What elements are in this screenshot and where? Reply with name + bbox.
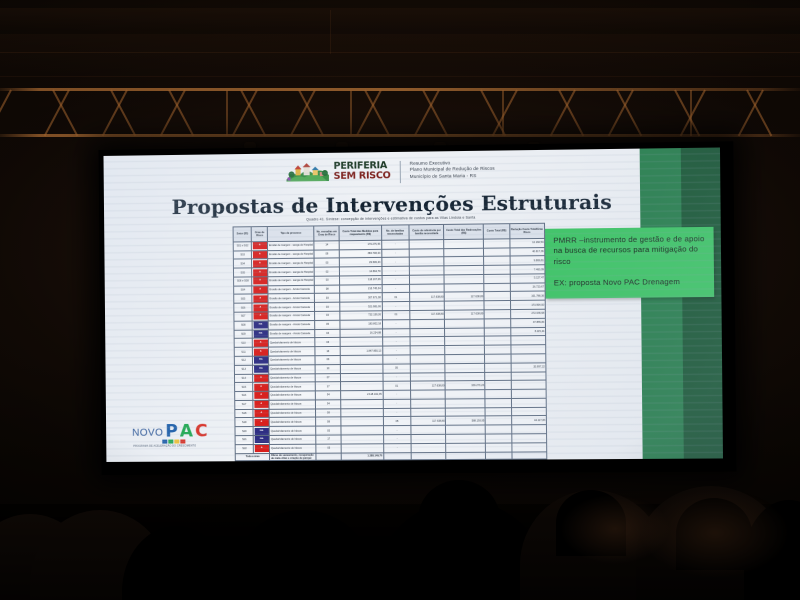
cell-custo_ref (411, 408, 446, 417)
cell-tipo: Queda/rolamento de blocos (269, 338, 315, 347)
cell-custo_realoc (445, 363, 485, 372)
cell-custo_total (485, 389, 511, 398)
table-col-header-1: Grau de Risco (252, 227, 268, 242)
risk-swatch: A (253, 286, 267, 293)
table-col-header-0: Setor (ID) (233, 227, 252, 242)
cell-custo_total (484, 256, 510, 265)
brick-seam (0, 52, 800, 53)
risk-swatch: A (254, 419, 268, 426)
cell-custo_med: 29.606,43 (340, 258, 382, 267)
cell-tipo: Queda/rolamento de blocos (269, 382, 315, 391)
cell-reducao: 44.117,83 (511, 416, 546, 425)
cell-custo_total (485, 363, 511, 372)
cell-moradias: 04 (316, 400, 342, 409)
cell-custo_realoc (445, 345, 485, 354)
auditorium-scene: PERIFERIA SEM RISCO Resumo Executivo Pla… (0, 0, 800, 600)
cell-tipo: Erosão de margem - Arroio Cancela (269, 329, 315, 338)
cell-custo_med (341, 417, 383, 426)
cell-custo_realoc: 117.638,80 (445, 292, 485, 301)
cell-custo_total (485, 381, 511, 390)
cell-moradias: 06 (315, 355, 341, 364)
risk-swatch: MA (254, 366, 268, 373)
risk-swatch: A (253, 251, 267, 258)
cell-custo_total (485, 372, 511, 381)
cell-moradias: 08 (316, 417, 342, 426)
cell-custo_med: 16.234,88 (340, 329, 382, 338)
cell-custo_total (485, 416, 511, 425)
cell-custo_realoc (446, 399, 486, 408)
cell-custo_total (485, 336, 511, 345)
cell-custo_ref (409, 257, 444, 266)
cell-custo_total (484, 283, 510, 292)
cell-custo_realoc (445, 328, 485, 337)
cell-custo_med: 118.167,06 (340, 275, 382, 284)
periferia-sem-risco-logo: PERIFERIA SEM RISCO (286, 161, 391, 181)
cell-custo_total (484, 274, 510, 283)
cell-familias: 01 (382, 293, 410, 302)
cell-tipo: Queda/rolamento de blocos (270, 435, 316, 444)
pac-letter-p: P (165, 424, 178, 438)
callout-example-text: EX: proposta Novo PAC Drenagem (554, 277, 706, 289)
audience-head (418, 480, 500, 558)
risk-level-cell: A (252, 250, 268, 259)
cell-custo_med (341, 444, 383, 453)
cell-custo_med (341, 382, 383, 391)
risk-level-cell: A (252, 268, 268, 277)
cell-familias: - (383, 434, 411, 443)
cell-custo_realoc (444, 274, 484, 283)
slide-header: PERIFERIA SEM RISCO Resumo Executivo Pla… (104, 157, 682, 187)
cell-familias: - (382, 302, 410, 311)
table-col-header-7: Custo Total das Realocações (R$) (444, 224, 484, 239)
audience-head (556, 490, 626, 556)
cell-custo_ref (410, 363, 445, 372)
cell-custo_med (341, 399, 383, 408)
cell-custo_realoc (444, 248, 484, 257)
cell-tipo: Erosão de margem - Arroio Cancela (269, 320, 315, 329)
cell-reducao (510, 345, 545, 354)
cell-moradias: 03 (314, 276, 340, 285)
total-empty (512, 451, 547, 459)
document-identification: Resumo Executivo Plano Municipal de Redu… (410, 160, 495, 181)
cell-tipo: Queda/rolamento de blocos (269, 356, 315, 365)
cell-setor: S01 e S02 (233, 242, 252, 251)
cell-familias: 05 (383, 417, 411, 426)
cell-familias: - (382, 275, 410, 284)
risk-level-cell: MA (252, 321, 268, 330)
risk-level-cell: A (253, 409, 269, 418)
cell-familias: - (383, 399, 411, 408)
interventions-table: Setor (ID)Grau de RiscoTipo de processoN… (233, 223, 548, 462)
cell-setor: S05 (233, 268, 252, 277)
brick-seam (0, 76, 800, 77)
cell-setor: S19 (235, 418, 254, 427)
pac-novo-text: NOVO (132, 428, 163, 439)
risk-level-cell: A (252, 241, 268, 250)
cell-custo_ref (409, 266, 444, 275)
risk-swatch: A (253, 295, 267, 302)
cell-custo_med (341, 435, 383, 444)
cell-familias: - (383, 390, 411, 399)
cell-custo_med: 179.275,45 (340, 240, 382, 249)
cell-custo_ref (409, 239, 444, 248)
risk-level-cell: A (253, 374, 269, 383)
cell-tipo: Queda/rolamento de blocos (269, 409, 315, 418)
cell-reducao (510, 336, 545, 345)
cell-custo_total (485, 407, 511, 416)
risk-swatch: A (254, 401, 268, 408)
cell-familias: - (381, 257, 409, 266)
green-band-dark (681, 147, 723, 458)
table-col-header-8: Custo Total (R$) (484, 224, 510, 239)
cell-custo_total (484, 301, 510, 310)
cell-custo_med (340, 337, 382, 346)
risk-level-cell: A (252, 294, 268, 303)
cell-custo_total (485, 345, 511, 354)
table-col-header-3: No. moradias em Grau de Risco (314, 226, 340, 241)
audience-head (268, 522, 330, 582)
cell-reducao (511, 425, 546, 434)
risk-swatch: MA (254, 322, 268, 329)
cell-custo_realoc: 588.193,95 (446, 416, 486, 425)
cell-setor: S16 (235, 391, 254, 400)
risk-level-cell: A (253, 338, 269, 347)
logo-line-2: SEM RISCO (334, 171, 391, 181)
cell-setor: S21 (235, 435, 254, 444)
cell-custo_ref (409, 248, 444, 257)
risk-level-cell: MA (253, 427, 269, 436)
cell-custo_total (485, 354, 511, 363)
risk-level-cell: A (252, 259, 268, 268)
cell-setor: S04 (233, 259, 252, 268)
risk-level-cell: A (253, 391, 269, 400)
table-body: S01 e S02AErosão de margem - sanga do Ho… (233, 238, 547, 461)
risk-level-cell: MA (254, 435, 270, 444)
risk-swatch: A (253, 242, 267, 249)
cell-custo_med: 732.139,26 (340, 311, 382, 320)
cell-familias: 01 (383, 381, 411, 390)
cell-tipo: Erosão de margem - Arroio Cancela (268, 311, 314, 320)
cell-custo_med: 14.864,79 (340, 267, 382, 276)
risk-level-cell: A (252, 303, 268, 312)
cell-custo_med: 183.802,18 (340, 320, 382, 329)
cell-familias: - (382, 328, 410, 337)
cell-setor: S22 (235, 444, 254, 453)
cell-setor: S12 (234, 356, 253, 365)
projection-screen: PERIFERIA SEM RISCO Resumo Executivo Pla… (98, 141, 736, 475)
cell-custo_ref: 117.638,80 (411, 381, 446, 390)
cell-reducao: 12.182,53 (509, 238, 544, 247)
cell-custo_total (485, 398, 511, 407)
cell-reducao (511, 398, 546, 407)
cell-familias: - (382, 355, 410, 364)
cell-familias: - (382, 284, 410, 293)
ceiling-band (0, 8, 800, 30)
cell-familias: - (383, 426, 411, 435)
cell-reducao: 173.994,00 (510, 300, 545, 309)
cell-custo_ref (410, 337, 445, 346)
cell-custo_realoc (446, 425, 486, 434)
cell-setor: S18 (235, 409, 254, 418)
risk-level-cell: MA (253, 365, 269, 374)
stage-truss (0, 88, 800, 140)
cell-tipo: Queda/rolamento de blocos (269, 400, 315, 409)
risk-level-cell: MA (253, 330, 269, 339)
risk-level-cell: A (252, 277, 268, 286)
table-col-header-4: Custo Total das Medidas para mapeamento … (339, 225, 381, 240)
cell-custo_total (484, 265, 510, 274)
cell-custo_ref (410, 346, 445, 355)
cell-custo_med (341, 373, 383, 382)
cell-familias: - (382, 266, 410, 275)
header-divider (399, 161, 400, 183)
risk-swatch: A (254, 410, 268, 417)
cell-custo_med: 1.847.850,13 (341, 346, 383, 355)
cell-setor: S17 (235, 400, 254, 409)
audience-head (152, 536, 230, 600)
cell-tipo: Queda/rolamento de blocos (269, 373, 315, 382)
cell-moradias: 05 (316, 426, 342, 435)
cell-custo_ref (410, 275, 445, 284)
cell-familias: - (383, 443, 411, 452)
table-col-header-6: Custo de referência por família necessit… (409, 224, 444, 239)
cell-moradias: 04 (315, 391, 341, 400)
cell-reducao: 7.460,39 (510, 265, 545, 274)
cell-setor: S15 (235, 383, 254, 392)
cell-custo_total (486, 425, 512, 434)
presentation-slide: PERIFERIA SEM RISCO Resumo Executivo Pla… (103, 147, 723, 461)
cell-moradias: 14 (314, 241, 340, 250)
cell-tipo: Queda/rolamento de blocos (269, 347, 315, 356)
cell-familias: - (382, 346, 410, 355)
cell-setor: S10 (234, 339, 253, 348)
cell-moradias: 03 (315, 311, 341, 320)
cell-reducao: 5.127,47 (510, 274, 545, 283)
cell-moradias: 02 (314, 267, 340, 276)
cell-custo_realoc (445, 336, 485, 345)
cell-custo_total (486, 443, 512, 452)
cell-custo_realoc (446, 443, 486, 452)
cell-custo_total (485, 318, 511, 327)
cell-custo_realoc (445, 283, 485, 292)
cell-moradias: 17 (316, 435, 342, 444)
cell-custo_realoc (444, 239, 484, 248)
cell-setor: S14 (234, 374, 253, 383)
risk-swatch: MA (255, 436, 269, 443)
cell-moradias: 08 (316, 408, 342, 417)
cell-custo_ref (410, 372, 445, 381)
cell-moradias: 05 (315, 320, 341, 329)
cell-moradias: 08 (314, 285, 340, 294)
cell-tipo: Queda/rolamento de blocos (270, 444, 316, 453)
cell-custo_ref (410, 328, 445, 337)
cell-setor: S11 (234, 347, 253, 356)
cell-setor: S06 (234, 303, 253, 312)
table-total-row: Toda a áreaObras de saneamento, recupera… (235, 451, 547, 461)
doc-line-3: Município de Santa Maria - RS (410, 173, 495, 181)
total-custo: 1.388.149,76 (342, 452, 384, 460)
cell-custo_ref (411, 399, 446, 408)
total-empty (411, 452, 446, 460)
village-hills-icon (286, 162, 329, 182)
cell-reducao (511, 389, 546, 398)
cell-moradias: 07 (315, 373, 341, 382)
cell-reducao: 37.855,84 (510, 318, 545, 327)
cell-custo_total (484, 247, 510, 256)
pac-color-chips (162, 439, 207, 443)
cell-familias: 01 (382, 311, 410, 320)
cell-custo_realoc: 117.638,80 (445, 310, 485, 319)
risk-swatch: A (253, 260, 267, 267)
cell-custo_med: 2.118.102,45 (341, 390, 383, 399)
risk-swatch: A (253, 269, 267, 276)
cell-custo_ref: 117.638,80 (410, 310, 445, 319)
cell-custo_ref (411, 425, 446, 434)
risk-swatch: MA (255, 427, 269, 434)
cell-reducao: 272.046,68 (510, 309, 545, 318)
cell-familias: - (383, 408, 411, 417)
cell-custo_realoc (445, 372, 485, 381)
cell-setor: S09 (234, 330, 253, 339)
cell-moradias: 16 (315, 347, 341, 356)
risk-swatch: A (254, 348, 268, 355)
cell-tipo: Queda/rolamento de blocos (269, 391, 315, 400)
risk-level-cell: A (253, 418, 269, 427)
total-tipo: Obras de saneamento, recuperação de mata… (270, 453, 316, 461)
risk-level-cell: A (253, 400, 269, 409)
total-moradias (316, 453, 342, 461)
risk-level-cell: A (253, 382, 269, 391)
cell-reducao: 26.720,67 (510, 283, 545, 292)
risk-swatch: A (254, 392, 268, 399)
cell-custo_realoc (446, 434, 486, 443)
cell-custo_realoc (444, 257, 484, 266)
cell-custo_ref (410, 355, 445, 364)
cell-custo_ref (410, 319, 445, 328)
cell-setor: S13 (234, 365, 253, 374)
cell-setor: S06 e S08 (234, 277, 253, 286)
risk-swatch: A (254, 375, 268, 382)
cell-moradias: 03 (314, 258, 340, 267)
cell-familias: - (381, 240, 409, 249)
cell-custo_total (485, 327, 511, 336)
pac-letter-a: A (180, 424, 193, 438)
cell-custo_realoc (445, 354, 485, 363)
cell-tipo: Queda/rolamento de blocos (269, 364, 315, 373)
table-col-header-9: Redução Custo Total/Grau Risco (509, 223, 544, 238)
cell-reducao: 35.997,22 (511, 363, 546, 372)
total-empty (486, 452, 512, 460)
cell-tipo: Queda/rolamento de blocos (270, 426, 316, 435)
risk-level-cell: A (254, 444, 270, 453)
cell-reducao (511, 354, 546, 363)
cell-reducao (511, 407, 546, 416)
risk-swatch: A (253, 313, 267, 320)
ceiling-band (0, 34, 800, 72)
risk-swatch: A (253, 278, 267, 285)
table-col-header-5: No. de famílias necessitadas (381, 225, 409, 240)
cell-setor: S08 (234, 321, 253, 330)
cell-custo_med: 213.745,34 (340, 284, 382, 293)
cell-reducao: 101.788,36 (510, 291, 545, 300)
cell-familias: 05 (382, 364, 410, 373)
cell-custo_ref: 117.638,80 (411, 417, 446, 426)
risk-swatch: A (254, 383, 268, 390)
cell-custo_ref (411, 434, 446, 443)
cell-reducao: 9.869,81 (510, 256, 545, 265)
pac-letter-c: C (195, 424, 208, 438)
cell-custo_ref (411, 390, 446, 399)
cell-moradias: 03 (315, 302, 341, 311)
cell-custo_total (484, 310, 510, 319)
cell-familias: - (383, 373, 411, 382)
cell-custo_ref: 117.638,80 (410, 293, 445, 302)
cell-custo_med (341, 408, 383, 417)
cell-setor: S05 (234, 294, 253, 303)
pac-subtitle: PROGRAMA DE ACELERAÇÃO DO CRESCIMENTO (133, 444, 207, 447)
cell-reducao: 8.115,44 (510, 327, 545, 336)
risk-level-cell: A (252, 285, 268, 294)
cell-setor: S20 (235, 427, 254, 436)
cell-custo_realoc (446, 390, 486, 399)
cell-custo_ref (410, 284, 445, 293)
cell-setor: S07 (234, 312, 253, 321)
logo-wordmark: PERIFERIA SEM RISCO (333, 161, 390, 181)
cell-custo_med: 383.708,43 (340, 249, 382, 258)
cell-custo_med (341, 364, 383, 373)
cell-reducao (511, 380, 546, 389)
cell-familias: - (382, 319, 410, 328)
cell-custo_total (484, 292, 510, 301)
cell-custo_realoc (446, 407, 486, 416)
cell-custo_realoc (444, 266, 484, 275)
cell-moradias: 04 (315, 329, 341, 338)
cell-custo_total (486, 434, 512, 443)
risk-swatch: MA (254, 330, 268, 337)
cell-tipo: Queda/rolamento de blocos (270, 417, 316, 426)
cell-familias: - (382, 337, 410, 346)
cell-custo_realoc: 339.273,23 (445, 381, 485, 390)
cell-custo_med: 521.981,06 (340, 302, 382, 311)
audience-head (676, 498, 752, 570)
cell-moradias: 17 (315, 382, 341, 391)
novo-pac-logo: NOVO P A C PROGRAMA DE ACELERAÇÃO DO CRE… (132, 424, 208, 448)
cell-reducao (511, 371, 546, 380)
cell-moradias: 05 (316, 444, 342, 453)
risk-level-cell: A (252, 312, 268, 321)
cell-custo_ref (411, 443, 446, 452)
pmrr-callout-box: PMRR –instrumento de gestão e de apoio n… (545, 227, 714, 298)
cell-moradias: 03 (315, 338, 341, 347)
cell-custo_med (341, 426, 383, 435)
callout-main-text: PMRR –instrumento de gestão e de apoio n… (553, 234, 705, 267)
cell-tipo: Erosão de margem - Arroio Cancela (268, 303, 314, 312)
brick-seam (330, 10, 331, 54)
cell-reducao (511, 443, 546, 452)
cell-moradias: 03 (315, 294, 341, 303)
risk-swatch: A (255, 445, 269, 452)
total-empty (446, 452, 486, 460)
interventions-table-wrapper: Setor (ID)Grau de RiscoTipo de processoN… (233, 223, 548, 462)
total-empty (383, 452, 411, 460)
cell-moradias: 09 (314, 249, 340, 258)
total-setor: Toda a área (235, 453, 270, 461)
cell-custo_total (484, 239, 510, 248)
risk-level-cell: A (253, 347, 269, 356)
cell-setor: S03 (233, 250, 252, 259)
risk-swatch: A (253, 304, 267, 311)
cell-custo_med: 307.671,38 (340, 293, 382, 302)
